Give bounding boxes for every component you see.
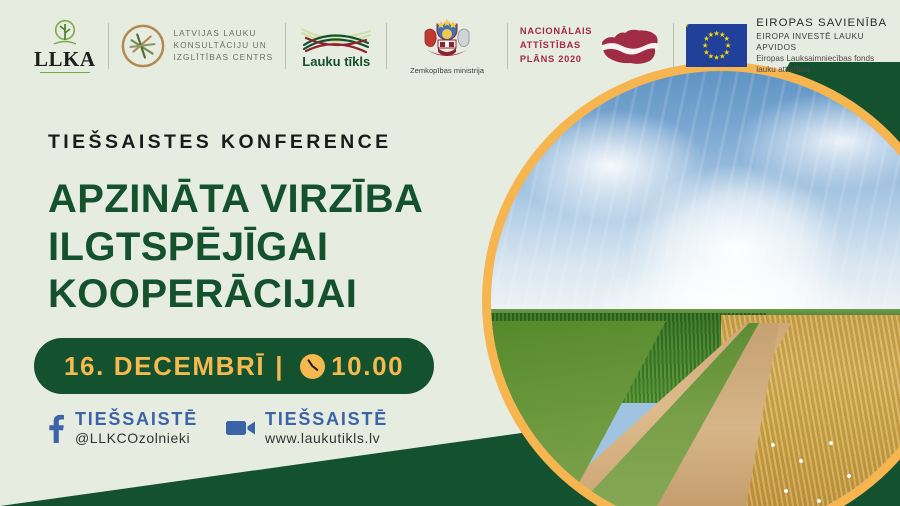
eu-line-3: lauku attīstībai <box>756 64 900 75</box>
logo-divider <box>386 23 387 69</box>
video-camera-icon[interactable] <box>226 418 256 438</box>
latvia-coat-of-arms-icon <box>419 18 475 64</box>
logo-divider <box>507 23 508 69</box>
badge-separator: | <box>275 351 284 382</box>
latvia-map-icon <box>599 25 661 67</box>
nap-line-2: ATTĪSTĪBAS <box>520 39 592 53</box>
eu-title: EIROPAS SAVIENĪBA <box>756 16 900 31</box>
logo-lauku-tikls: Lauku tīkls <box>298 23 374 69</box>
eu-flag-icon <box>686 24 747 67</box>
hero-photo <box>482 62 900 506</box>
event-kicker: TIEŠSAISTES KONFERENCE <box>48 131 392 154</box>
facebook-text: TIEŠSAISTĒ @LLKCOzolnieki <box>75 409 198 446</box>
conference-poster: LLKA LATVIJAS LAUKU KONSULTĀCIJU UN IZGL… <box>0 0 900 506</box>
llkc-line-3: IZGLĪTĪBAS CENTRS <box>173 52 273 64</box>
website-label: TIEŠSAISTĒ <box>265 409 388 430</box>
logo-llka: LLKA <box>34 19 96 74</box>
llka-label: LLKA <box>34 49 96 70</box>
llkc-circle-emblem <box>120 23 166 69</box>
nap-line-3: PLĀNS 2020 <box>520 53 592 67</box>
logo-nap: NACIONĀLAIS ATTĪSTĪBAS PLĀNS 2020 <box>520 25 661 67</box>
eu-line-1: EIROPA INVESTĒ LAUKU APVIDOS <box>756 31 900 53</box>
social-links: TIEŠSAISTĒ @LLKCOzolnieki TIEŠSAISTĒ www… <box>44 409 388 446</box>
facebook-icon[interactable] <box>44 413 66 443</box>
logo-llkc: LATVIJAS LAUKU KONSULTĀCIJU UN IZGLĪTĪBA… <box>120 23 273 69</box>
eu-line-2: Eiropas Lauksaimniecības fonds <box>756 53 900 64</box>
logo-divider <box>285 23 286 69</box>
photo-wildflowers <box>761 431 876 506</box>
crossing-lines-icon <box>298 23 374 57</box>
llka-underline <box>40 72 90 74</box>
llkc-line-1: LATVIJAS LAUKU <box>173 28 273 40</box>
facebook-handle: @LLKCOzolnieki <box>75 430 198 447</box>
logo-eu: EIROPAS SAVIENĪBA EIROPA INVESTĒ LAUKU A… <box>686 16 900 75</box>
eu-label: EIROPAS SAVIENĪBA EIROPA INVESTĒ LAUKU A… <box>756 16 900 75</box>
social-facebook[interactable]: TIEŠSAISTĒ @LLKCOzolnieki <box>44 409 198 446</box>
nap-label: NACIONĀLAIS ATTĪSTĪBAS PLĀNS 2020 <box>520 25 592 67</box>
tree-icon <box>48 19 82 49</box>
llkc-line-2: KONSULTĀCIJU UN <box>173 40 273 52</box>
logo-divider <box>108 23 109 69</box>
ministry-label: Zemkopības ministrija <box>410 66 484 75</box>
logo-ministry: Zemkopības ministrija <box>399 18 495 75</box>
logo-divider <box>673 23 674 69</box>
date-time-badge: 16. DECEMBRĪ | 10.00 <box>34 338 434 394</box>
website-handle: www.laukutikls.lv <box>265 430 388 447</box>
photo-sky <box>491 71 900 319</box>
facebook-label: TIEŠSAISTĒ <box>75 409 198 430</box>
event-date: 16. DECEMBRĪ <box>64 351 265 382</box>
event-time: 10.00 <box>331 351 404 382</box>
nap-line-1: NACIONĀLAIS <box>520 25 592 39</box>
sponsor-logo-bar: LLKA LATVIJAS LAUKU KONSULTĀCIJU UN IZGL… <box>0 0 900 92</box>
photo-circle <box>491 71 900 506</box>
website-text: TIEŠSAISTĒ www.laukutikls.lv <box>265 409 388 446</box>
lauku-tikls-label: Lauku tīkls <box>302 54 370 69</box>
page-title: APZINĀTA VIRZĪBA ILGTSPĒJĪGAI KOOPERĀCIJ… <box>48 176 423 319</box>
llkc-label: LATVIJAS LAUKU KONSULTĀCIJU UN IZGLĪTĪBA… <box>173 28 273 63</box>
clock-icon <box>300 354 325 379</box>
social-website[interactable]: TIEŠSAISTĒ www.laukutikls.lv <box>226 409 388 446</box>
